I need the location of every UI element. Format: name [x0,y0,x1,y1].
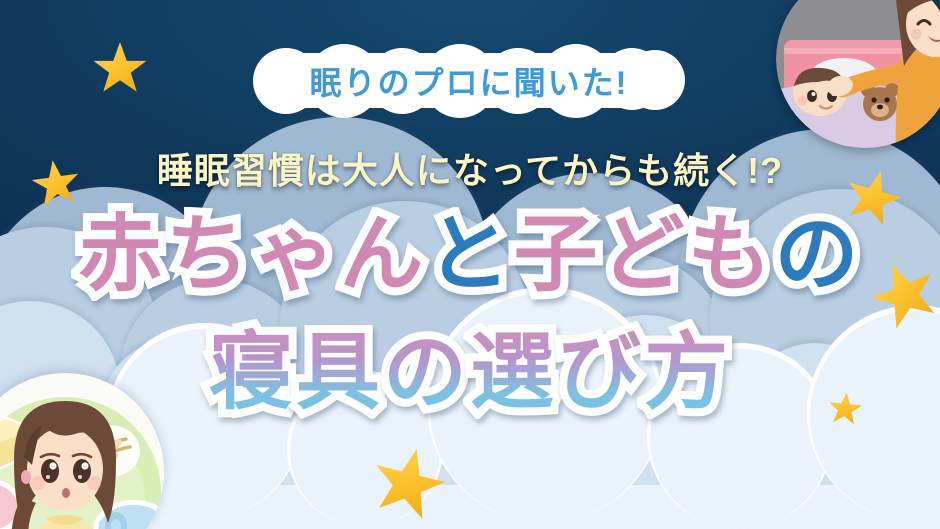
char-fill: び [557,325,644,419]
title-line-1-char-8: のの [775,212,862,296]
title-line-2-char-3: 選選 [470,330,557,414]
char-fill: 方 [644,325,731,419]
badge-bubble: 眠りのプロに聞いた! [253,44,685,117]
char-fill: ゃ [252,207,339,301]
banner-canvas: 眠りのプロに聞いた! 睡眠習慣は大人になってからも続く!? 赤赤ちちゃゃんんとと… [0,0,940,529]
title-line-1-char-7: もも [688,212,775,296]
title-line-1-char-5: 子子 [514,212,601,296]
char-fill: ん [339,207,426,301]
char-fill: の [383,325,470,419]
title-line-2-char-2: のの [383,330,470,414]
title-line-2-char-1: 具具 [296,330,383,414]
char-fill: 具 [296,325,383,419]
subhead-text: 睡眠習慣は大人になってからも続く!? [0,142,940,194]
char-fill: ど [601,207,688,301]
char-fill: の [775,207,862,301]
char-fill: 選 [470,325,557,419]
title-line-1-char-0: 赤赤 [78,212,165,296]
title-line-1: 赤赤ちちゃゃんんとと子子どどもものの [0,212,940,296]
char-fill: ち [165,207,252,301]
title-line-2-char-0: 寝寝 [209,330,296,414]
title-line-1-char-1: ちち [165,212,252,296]
title-line-1-char-4: とと [426,212,513,296]
title-line-2-char-5: 方方 [644,330,731,414]
title-line-1-char-6: どど [601,212,688,296]
title-line-1-char-3: んん [339,212,426,296]
char-fill: 寝 [209,325,296,419]
char-fill: と [426,207,513,301]
char-fill: 子 [514,207,601,301]
title-line-2: 寝寝具具のの選選びび方方 [0,330,940,414]
char-fill: 赤 [78,207,165,301]
title-line-1-char-2: ゃゃ [252,212,339,296]
badge-text: 眠りのプロに聞いた! [253,44,685,117]
title-line-2-char-4: びび [557,330,644,414]
char-fill: も [688,207,775,301]
